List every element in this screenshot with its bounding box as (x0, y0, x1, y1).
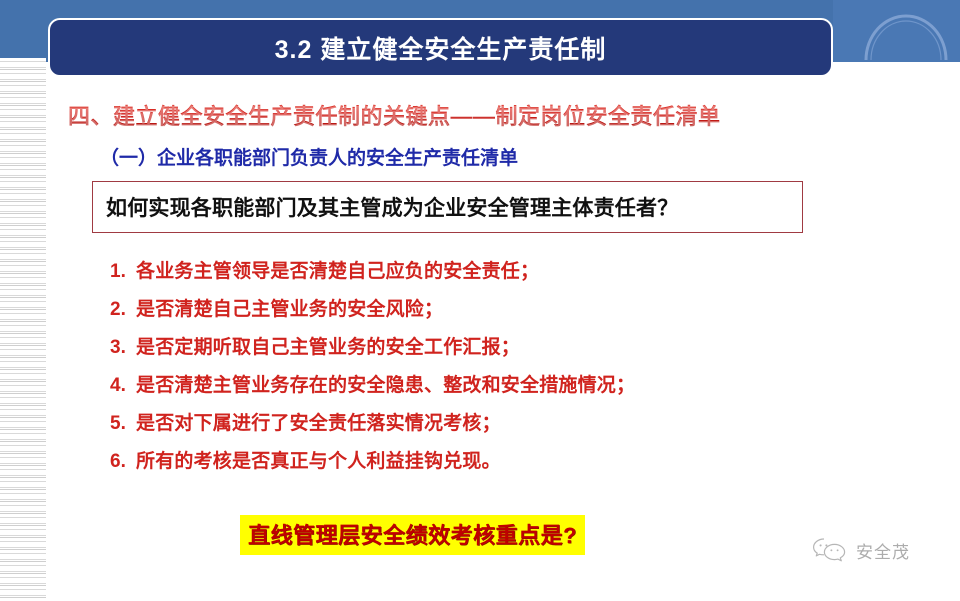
list-item-text: 是否定期听取自己主管业务的安全工作汇报； (136, 332, 520, 359)
list-item-text: 是否对下属进行了安全责任落实情况考核； (136, 408, 501, 435)
list-item-number: 1. (110, 261, 136, 283)
section-heading: 四、建立健全安全生产责任制的关键点——制定岗位安全责任清单 (68, 99, 721, 131)
list-item: 3. 是否定期听取自己主管业务的安全工作汇报； (110, 332, 870, 370)
question-box: 如何实现各职能部门及其主管成为企业安全管理主体责任者？ (92, 181, 803, 233)
list-item-text: 各业务主管领导是否清楚自己应负的安全责任； (136, 256, 539, 283)
list-item-text: 是否清楚自己主管业务的安全风险； (136, 294, 443, 321)
list-item: 6. 所有的考核是否真正与个人利益挂钩兑现。 (110, 446, 870, 484)
list-item: 5. 是否对下属进行了安全责任落实情况考核； (110, 408, 870, 446)
list-item: 1. 各业务主管领导是否清楚自己应负的安全责任； (110, 256, 870, 294)
list-item-number: 2. (110, 299, 136, 321)
slide-title-bar: 3.2 建立健全安全生产责任制 (48, 18, 833, 77)
highlight-question: 直线管理层安全绩效考核重点是? (240, 515, 585, 555)
list-item-number: 3. (110, 337, 136, 359)
list-item-number: 5. (110, 413, 136, 435)
list-item: 4. 是否清楚主管业务存在的安全隐患、整改和安全措施情况； (110, 370, 870, 408)
checklist: 1. 各业务主管领导是否清楚自己应负的安全责任； 2. 是否清楚自己主管业务的安… (110, 256, 870, 484)
list-item: 2. 是否清楚自己主管业务的安全风险； (110, 294, 870, 332)
highlight-question-text: 直线管理层安全绩效考核重点是? (248, 523, 577, 548)
wechat-icon (812, 536, 848, 564)
header-band-right-panel (833, 0, 960, 62)
sub-heading: （一）企业各职能部门负责人的安全生产责任清单 (100, 143, 518, 170)
list-item-text: 所有的考核是否真正与个人利益挂钩兑现。 (136, 446, 501, 473)
list-item-number: 4. (110, 375, 136, 397)
list-item-number: 6. (110, 451, 136, 473)
list-item-text: 是否清楚主管业务存在的安全隐患、整改和安全措施情况； (136, 370, 635, 397)
watermark: 安全茂 (812, 536, 910, 564)
left-stripe-decoration-overlay (0, 58, 46, 601)
watermark-label: 安全茂 (856, 538, 910, 563)
slide-title: 3.2 建立健全安全生产责任制 (275, 30, 607, 66)
question-box-text: 如何实现各职能部门及其主管成为企业安全管理主体责任者？ (93, 192, 678, 222)
slide-canvas: 3.2 建立健全安全生产责任制 四、建立健全安全生产责任制的关键点——制定岗位安… (0, 0, 960, 601)
